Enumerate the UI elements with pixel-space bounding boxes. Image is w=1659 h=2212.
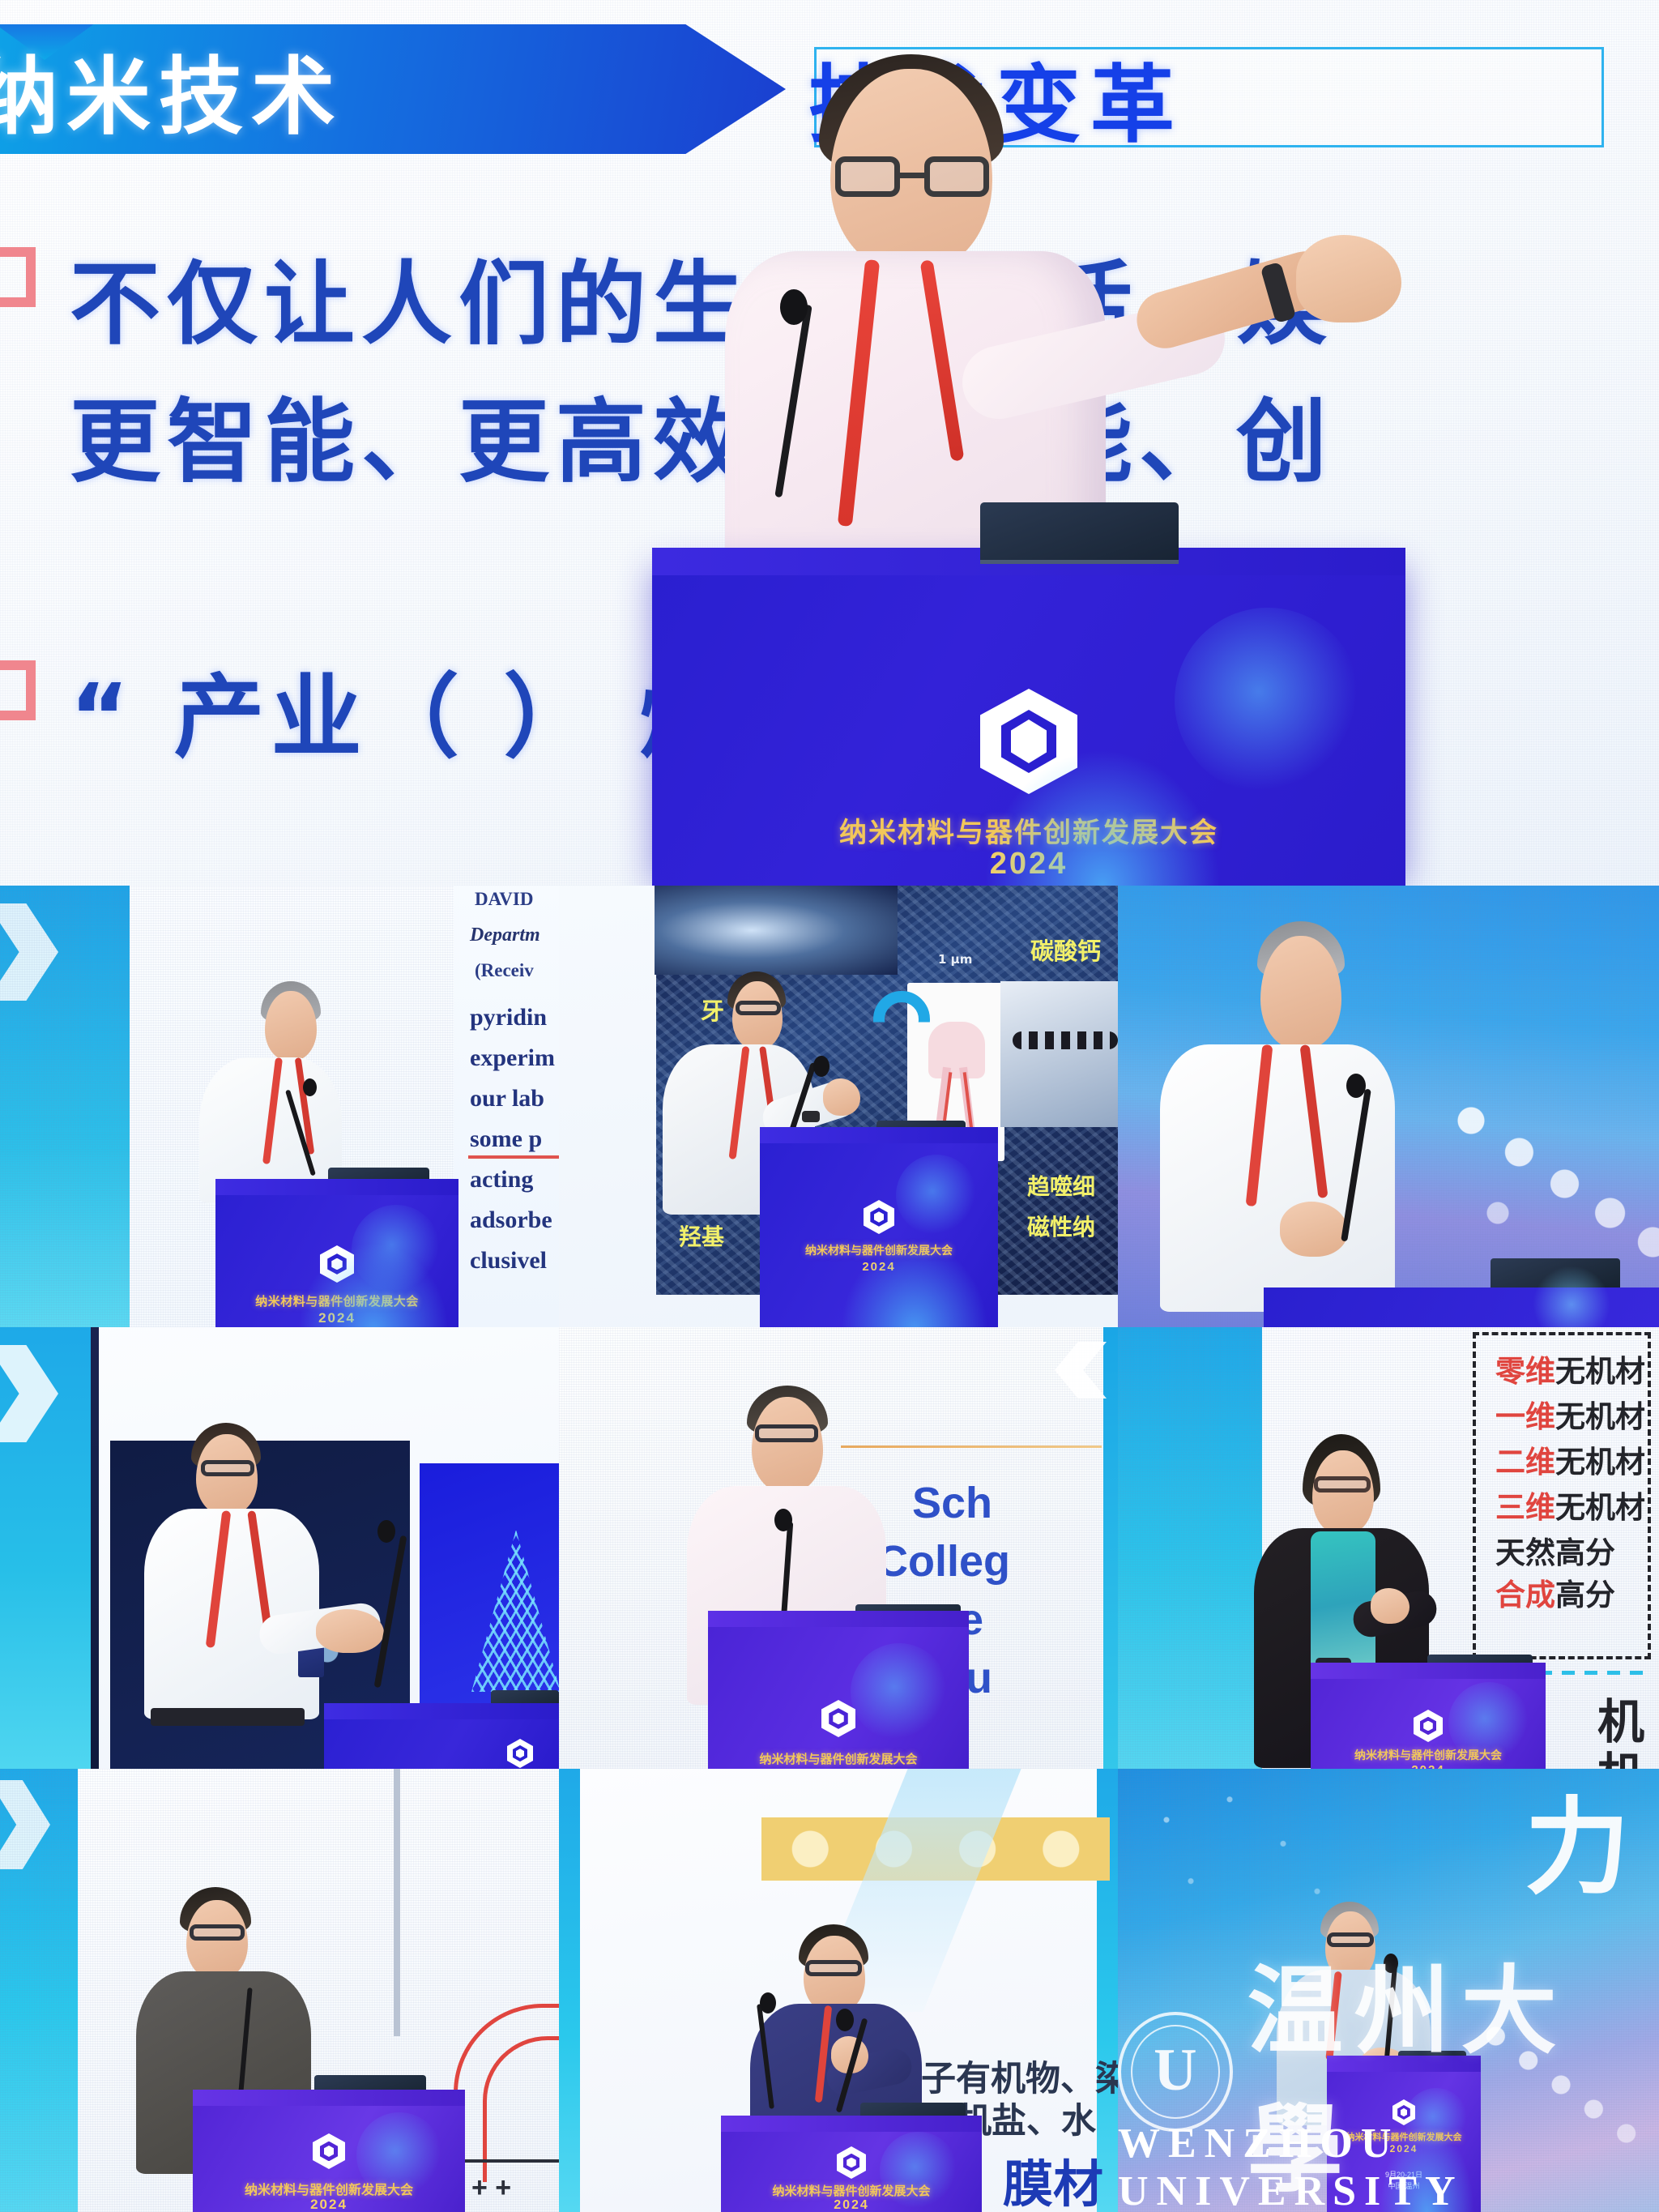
laptop-icon [980,502,1179,564]
grid-photo-3 [1118,886,1659,1327]
podium-particle-graphic [288,1231,458,1327]
grid-photo-7: + + 纳米材料与器件创新发展大会 2024 [0,1769,559,2212]
hero-podium: 纳米材料与器件创新发展大会 2024 [652,567,1405,886]
slide-text-2: Departm [470,925,540,946]
podium-year: 2024 [1311,1763,1546,1769]
microphone-head-icon [760,1992,776,2013]
slide-bullet-square-2 [0,660,36,720]
speaker-hand [316,1609,384,1653]
microphone-head-icon [303,1078,317,1096]
speaker-head [732,981,783,1049]
podium [1264,1287,1659,1327]
slide-text-4: pyridin [470,1004,547,1031]
seal-letter: U [1154,2036,1196,2105]
wristband [802,1111,820,1122]
podium: 纳米材料与器件创新发展大会 2024 [1311,1674,1546,1769]
podium-caption: 纳米材料与器件创新发展大会 [721,2182,982,2199]
slide-dashed-divider [1539,1671,1651,1675]
microphone-head-icon [1346,1074,1366,1098]
stage-left-panel [559,1769,580,2212]
scalebar-label: 1 μm [938,952,972,967]
ribbon-label: 纳米技术 [0,28,343,151]
slide-text-2: 一维无机材 [1495,1392,1645,1436]
slide-underline [468,1155,559,1159]
podium: 纳米材料与器件创新发展大会 2024 [215,1190,458,1327]
slide-text-5: experim [470,1044,555,1072]
podium-top-edge [215,1179,458,1195]
slide-text-1: DAVID [475,889,533,910]
belt [151,1708,305,1726]
hexagon-nano-logo-icon [821,1700,855,1737]
university-seal-icon: U [1118,2012,1233,2132]
podium-caption: 纳米材料与器件创新发展大会 [1311,1747,1546,1763]
hexagon-nano-logo-icon [1414,1710,1443,1742]
glasses-icon [736,1001,781,1015]
slide-text-3: (Receiv [475,960,534,981]
hero-photo: 纳米技术 技术变革 不仅让人们的生产、生活、娱 更智能、更高效、多功能、创 “ … [0,0,1659,886]
speaker-hand [1371,1588,1410,1624]
podium-particle-graphic [969,732,1236,886]
podium-glow-graphic [851,1643,948,1740]
slide-text-7: some p [470,1125,542,1153]
slide-bullet-square-1 [0,247,36,307]
slide-text-4: 磁性纳 [1027,1210,1095,1242]
slide-text-10: clusivel [470,1247,547,1275]
slide-text-9: adsorbe [470,1206,552,1234]
slide-text-3: 膜材 [1003,2143,1103,2212]
slide-text-2: Colleg [876,1536,1010,1586]
particle-chain-graphic [1013,1031,1118,1049]
sem-panel-right [1000,981,1118,1127]
podium: 纳米材料与器件创新发展大会 2024 [760,1138,998,1327]
grid-photo-2: 碳酸钙 牙 趋噬细 磁性纳 羟基 1 μm [559,886,1118,1327]
slide-text-5: 天然高分 [1495,1528,1615,1572]
podium [324,1715,559,1769]
podium-top-edge [721,2116,982,2132]
slide-text-1: 零维无机材 [1495,1347,1645,1390]
podium: 纳米材料与器件创新发展大会 [708,1622,969,1769]
speaker-head [1312,1450,1374,1535]
photo-grid: DAVID Departm (Receiv pyridin experim ou… [0,886,1659,2212]
microphone-head-icon [774,1509,792,1531]
sem-micrograph [655,886,898,975]
podium: 纳米材料与器件创新发展大会 2024 [721,2127,982,2212]
glasses-icon [755,1424,818,1442]
slide-divider-line [394,1769,400,2036]
handheld-microphone-icon [813,1056,829,1077]
podium-particle-graphic [831,1231,998,1327]
podium-glow-graphic [896,1155,977,1236]
plus-symbol: + + [471,2172,511,2204]
grid-photo-6: 零维无机材 一维无机材 二维无机材 三维无机材 天然高分 合成高分 机 机 [1118,1327,1659,1769]
slide-text-2: 牙 [701,993,724,1027]
slide-text-4: 三维无机材 [1495,1483,1645,1527]
stage-divider [91,1327,99,1769]
podium-year: 2024 [721,2198,982,2212]
podium-top-edge [193,2090,465,2106]
hexagon-nano-logo-icon [837,2146,866,2179]
grid-photo-9: 力 纳米材料与器件创新发展大会 2024 [1118,1769,1659,2212]
slide-text-3: 二维无机材 [1495,1437,1645,1481]
microphone-head-icon [377,1520,395,1543]
grid-photo-1: DAVID Departm (Receiv pyridin experim ou… [0,886,559,1327]
stage-right-panel [1103,1327,1118,1769]
speaker-hand [823,1078,860,1116]
glasses-icon [835,156,989,199]
slide-text-6: 合成高分 [1495,1570,1615,1614]
photo-collage: 纳米技术 技术变革 不仅让人们的生产、生活、娱 更智能、更高效、多功能、创 “ … [0,0,1659,2212]
watermark-name-en: WENZHOU UNIVERSITY [1118,2120,1654,2212]
podium-top-edge [1311,1663,1546,1679]
hexagon-nano-logo-icon [864,1200,894,1234]
podium-top-edge [760,1127,998,1143]
glasses-icon [805,1960,862,1976]
microphone-head-icon [780,289,808,325]
glasses-icon [190,1924,245,1941]
slide-ribbon-banner: 纳米技术 [0,24,786,154]
slide-divider-line [841,1445,1102,1448]
hexagon-nano-logo-icon [507,1739,533,1768]
podium-top-edge [324,1703,559,1719]
slide-text-3: 趋噬细 [1027,1169,1095,1202]
slide-text-5: 羟基 [679,1219,724,1252]
grid-photo-8: 分子有机物、染 无机盐、水 膜材 [559,1769,1118,2212]
grid-photo-5: Sch Colleg Pe Gu 纳米材料与器件创新发展大会 [559,1327,1118,1769]
podium-year: 2024 [193,2197,465,2212]
speaker-head [1260,936,1341,1049]
slide-text-8: 机 [1597,1737,1644,1769]
podium-top-edge [708,1611,969,1627]
speaker-head [265,991,317,1061]
podium: 纳米材料与器件创新发展大会 2024 [193,2101,465,2212]
slide-text-6: our lab [470,1085,544,1112]
handheld-microphone-icon [836,2009,854,2031]
podium-caption: 纳米材料与器件创新发展大会 [193,2179,465,2198]
slide-text-8: acting [470,1166,533,1194]
speaker-head [752,1397,823,1492]
glasses-icon [201,1460,254,1476]
axis-line [463,2159,559,2163]
glasses-icon [1314,1476,1371,1492]
slide-text-1: 碳酸钙 [1030,933,1101,967]
hexagon-nano-logo-icon [313,2133,345,2169]
podium-caption: 纳米材料与器件创新发展大会 [708,1750,969,1767]
slide-text-1: Sch [912,1478,992,1528]
grid-photo-4 [0,1327,559,1769]
particle-network-graphic [1118,1769,1361,1939]
slide-text-1: 力 [1525,1769,1630,1915]
